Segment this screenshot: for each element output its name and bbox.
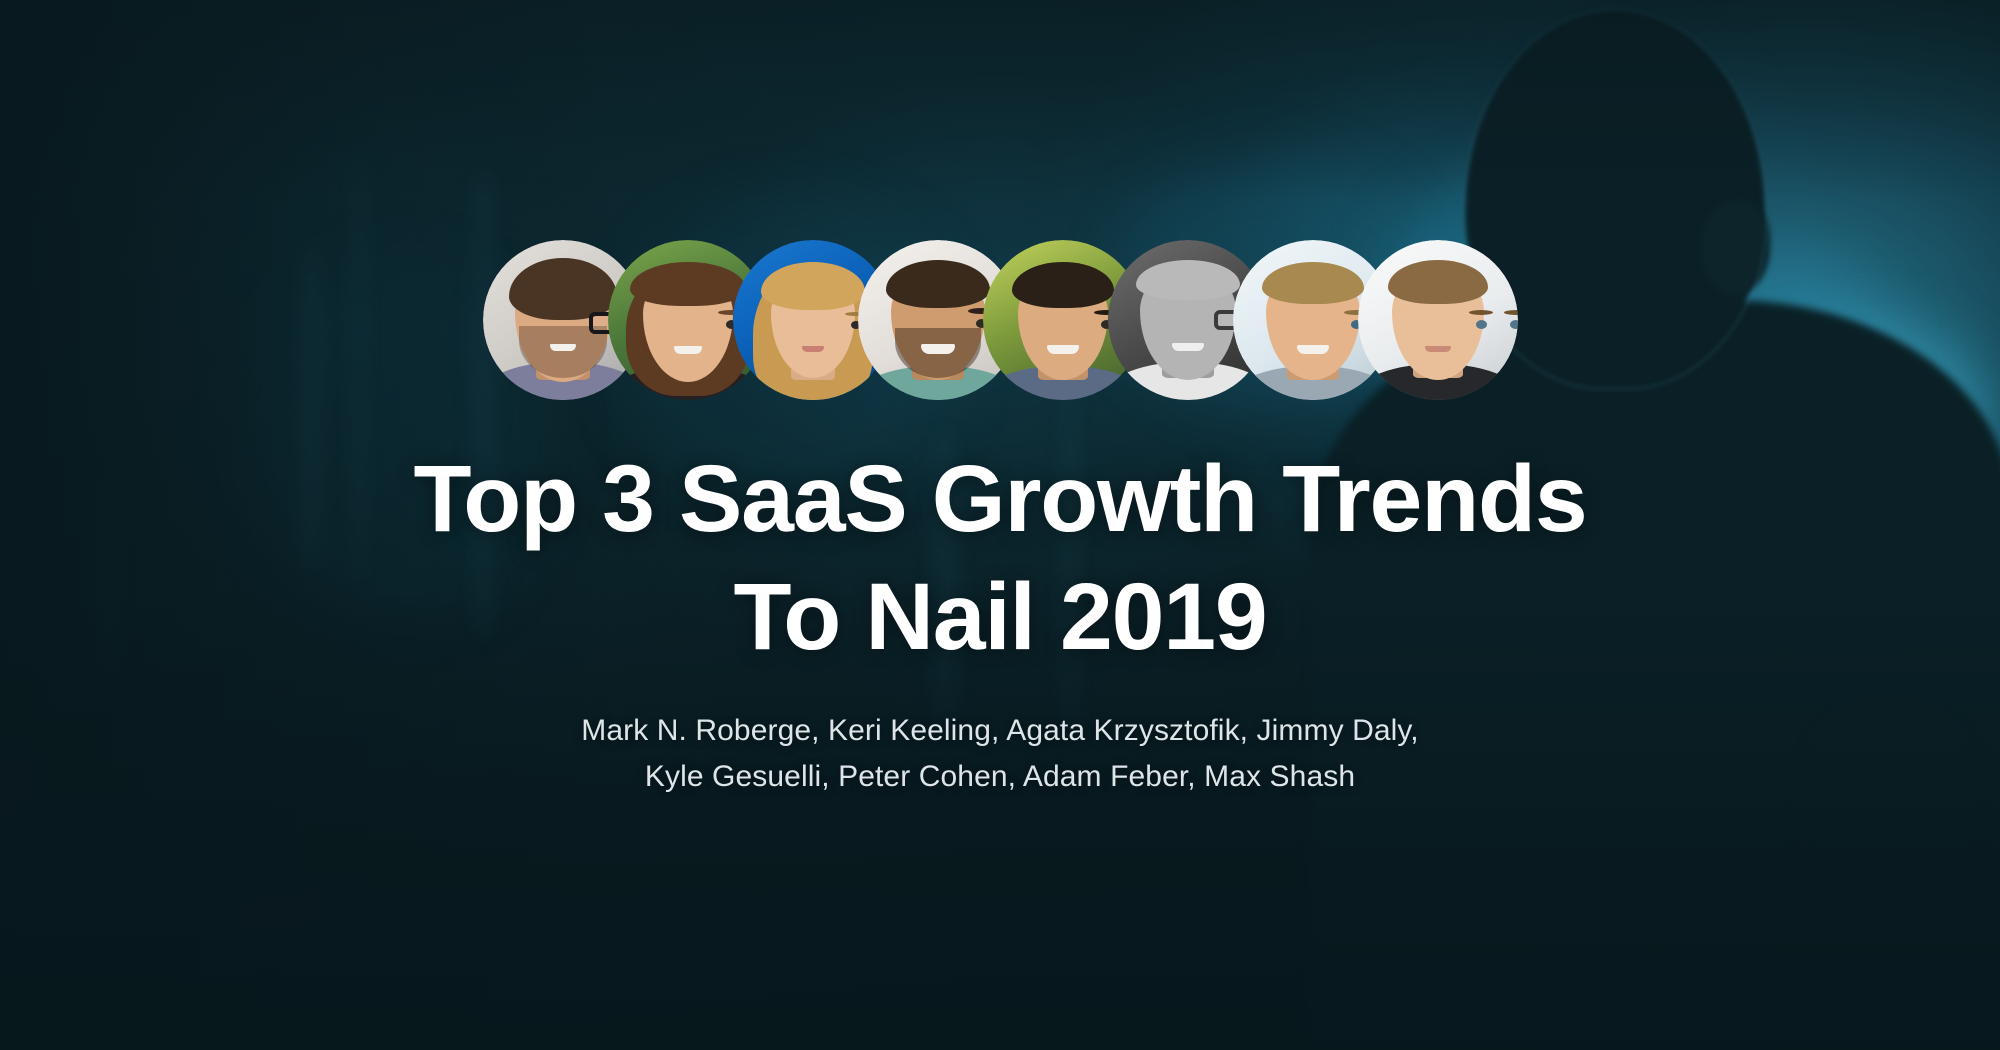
slide-title-line-1: Top 3 SaaS Growth Trends (0, 440, 2000, 558)
slide-title-line-2: To Nail 2019 (0, 558, 2000, 676)
slide-subtitle: Mark N. Roberge, Keri Keeling, Agata Krz… (0, 708, 2000, 800)
slide-subtitle-line-1: Mark N. Roberge, Keri Keeling, Agata Krz… (0, 708, 2000, 754)
webinar-title-slide: Top 3 SaaS Growth Trends To Nail 2019 Ma… (0, 0, 2000, 1050)
slide-title: Top 3 SaaS Growth Trends To Nail 2019 (0, 440, 2000, 676)
slide-subtitle-line-2: Kyle Gesuelli, Peter Cohen, Adam Feber, … (0, 754, 2000, 800)
speaker-avatar-row (0, 240, 2000, 410)
avatar-speaker-8 (1358, 240, 1518, 400)
